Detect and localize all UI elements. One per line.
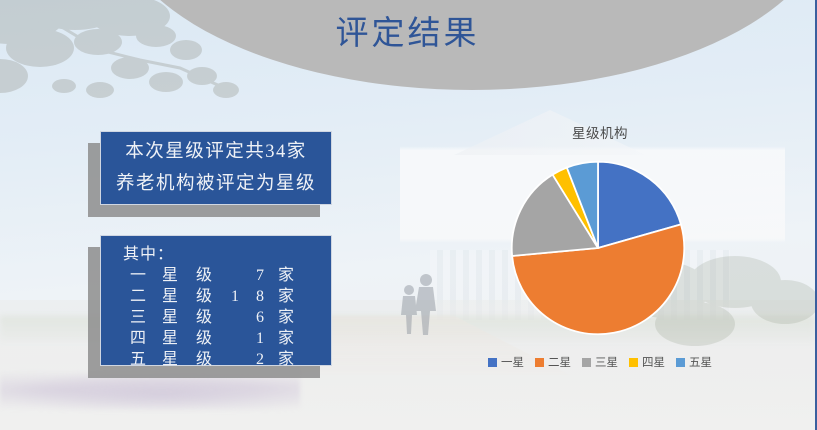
- legend-label: 四星: [642, 354, 665, 370]
- breakdown-count-ones: 1: [249, 328, 271, 349]
- legend-label: 三星: [595, 354, 618, 370]
- legend-item-一星[interactable]: 一星: [488, 354, 524, 370]
- breakdown-row: 五星级2家: [101, 349, 331, 370]
- breakdown-count-tens: [221, 328, 249, 349]
- legend-label: 一星: [501, 354, 524, 370]
- breakdown-row: 一星级7家: [101, 265, 331, 286]
- breakdown-grade: 级: [187, 328, 221, 349]
- pie-plot-area: [510, 160, 686, 336]
- breakdown-box: 其中： 一星级7家二星级18家三星级6家四星级1家五星级2家: [100, 235, 332, 366]
- breakdown-level: 一: [123, 265, 153, 286]
- breakdown-row: 二星级18家: [101, 286, 331, 307]
- statement-line-1: 本次星级评定共34家: [125, 136, 307, 168]
- breakdown-star: 星: [153, 349, 187, 370]
- statement-box: 本次星级评定共34家 养老机构被评定为星级: [100, 131, 332, 205]
- breakdown-unit: 家: [271, 286, 301, 307]
- breakdown-grade: 级: [187, 349, 221, 370]
- breakdown-row-list: 一星级7家二星级18家三星级6家四星级1家五星级2家: [101, 265, 331, 370]
- legend-item-四星[interactable]: 四星: [629, 354, 665, 370]
- breakdown-star: 星: [153, 265, 187, 286]
- breakdown-grade: 级: [187, 307, 221, 328]
- legend-label: 二星: [548, 354, 571, 370]
- legend-item-二星[interactable]: 二星: [535, 354, 571, 370]
- breakdown-count-ones: 6: [249, 307, 271, 328]
- pie-chart: 星级机构 一星二星三星四星五星: [425, 112, 775, 374]
- breakdown-count-tens: 1: [221, 286, 249, 307]
- breakdown-unit: 家: [271, 265, 301, 286]
- breakdown-count-ones: 2: [249, 349, 271, 370]
- breakdown-heading: 其中：: [101, 244, 331, 265]
- breakdown-grade: 级: [187, 265, 221, 286]
- page-title: 评定结果: [0, 6, 815, 54]
- legend-item-五星[interactable]: 五星: [676, 354, 712, 370]
- breakdown-count-tens: [221, 265, 249, 286]
- breakdown-grade: 级: [187, 286, 221, 307]
- breakdown-count-tens: [221, 307, 249, 328]
- breakdown-row: 四星级1家: [101, 328, 331, 349]
- legend-swatch-icon: [535, 358, 544, 367]
- statement-line-2: 养老机构被评定为星级: [116, 168, 316, 200]
- breakdown-star: 星: [153, 307, 187, 328]
- legend-swatch-icon: [629, 358, 638, 367]
- presentation-slide: 评定结果 本次星级评定共34家 养老机构被评定为星级 其中： 一星级7家二星级1…: [0, 0, 817, 430]
- breakdown-row: 三星级6家: [101, 307, 331, 328]
- legend-swatch-icon: [582, 358, 591, 367]
- breakdown-unit: 家: [271, 328, 301, 349]
- legend-label: 五星: [689, 354, 712, 370]
- legend-swatch-icon: [488, 358, 497, 367]
- chart-title: 星级机构: [425, 122, 775, 142]
- breakdown-star: 星: [153, 286, 187, 307]
- breakdown-level: 四: [123, 328, 153, 349]
- breakdown-level: 二: [123, 286, 153, 307]
- breakdown-star: 星: [153, 328, 187, 349]
- breakdown-level: 三: [123, 307, 153, 328]
- legend-swatch-icon: [676, 358, 685, 367]
- breakdown-level: 五: [123, 349, 153, 370]
- breakdown-unit: 家: [271, 349, 301, 370]
- breakdown-unit: 家: [271, 307, 301, 328]
- breakdown-count-ones: 7: [249, 265, 271, 286]
- pie-slices: [510, 160, 686, 336]
- breakdown-count-ones: 8: [249, 286, 271, 307]
- chart-legend: 一星二星三星四星五星: [425, 354, 775, 370]
- legend-item-三星[interactable]: 三星: [582, 354, 618, 370]
- breakdown-count-tens: [221, 349, 249, 370]
